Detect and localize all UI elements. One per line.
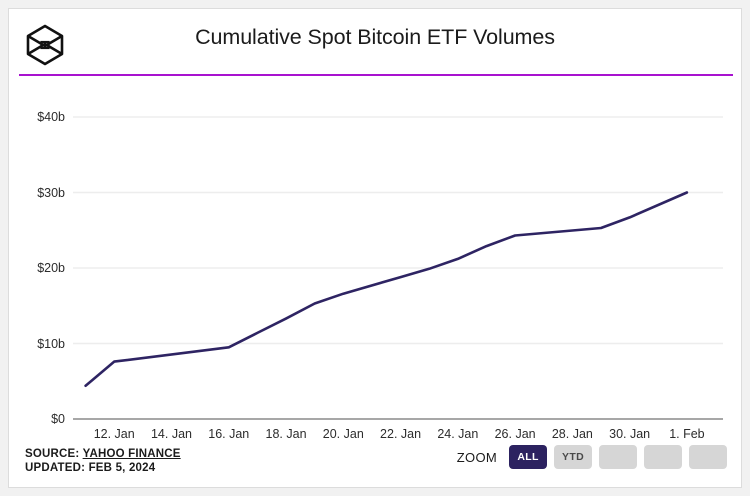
source-block: SOURCE: YAHOO FINANCE UPDATED: FEB 5, 20…	[25, 447, 181, 475]
source-line: SOURCE: YAHOO FINANCE	[25, 447, 181, 461]
header-divider	[19, 74, 733, 76]
chart-card: Cumulative Spot Bitcoin ETF Volumes $0$1…	[8, 8, 742, 488]
page-title: Cumulative Spot Bitcoin ETF Volumes	[9, 25, 741, 50]
zoom-label: ZOOM	[457, 450, 497, 465]
x-axis-tick-label: 1. Feb	[652, 427, 722, 441]
source-prefix: SOURCE:	[25, 448, 79, 460]
chart-header: Cumulative Spot Bitcoin ETF Volumes	[9, 9, 741, 73]
y-axis-tick-label: $20b	[9, 261, 65, 275]
gridlines	[73, 117, 723, 344]
y-axis-tick-label: $30b	[9, 186, 65, 200]
y-axis-tick-label: $0	[9, 412, 65, 426]
zoom-button-4[interactable]	[644, 445, 682, 469]
zoom-button-all[interactable]: ALL	[509, 445, 547, 469]
zoom-button-3[interactable]	[599, 445, 637, 469]
zoom-button-ytd[interactable]: YTD	[554, 445, 592, 469]
chart-footer: SOURCE: YAHOO FINANCE UPDATED: FEB 5, 20…	[9, 441, 741, 487]
zoom-button-5[interactable]	[689, 445, 727, 469]
updated-value: FEB 5, 2024	[89, 462, 156, 474]
line-chart-svg	[9, 79, 743, 444]
updated-line: UPDATED: FEB 5, 2024	[25, 461, 181, 475]
zoom-controls: ZOOM ALLYTD	[457, 445, 727, 469]
source-link[interactable]: YAHOO FINANCE	[83, 448, 181, 460]
y-axis-tick-label: $40b	[9, 110, 65, 124]
y-axis-tick-label: $10b	[9, 337, 65, 351]
updated-prefix: UPDATED:	[25, 462, 85, 474]
chart-plot-area: $0$10b$20b$30b$40b 12. Jan14. Jan16. Jan…	[9, 79, 743, 444]
data-series-line	[86, 193, 687, 386]
